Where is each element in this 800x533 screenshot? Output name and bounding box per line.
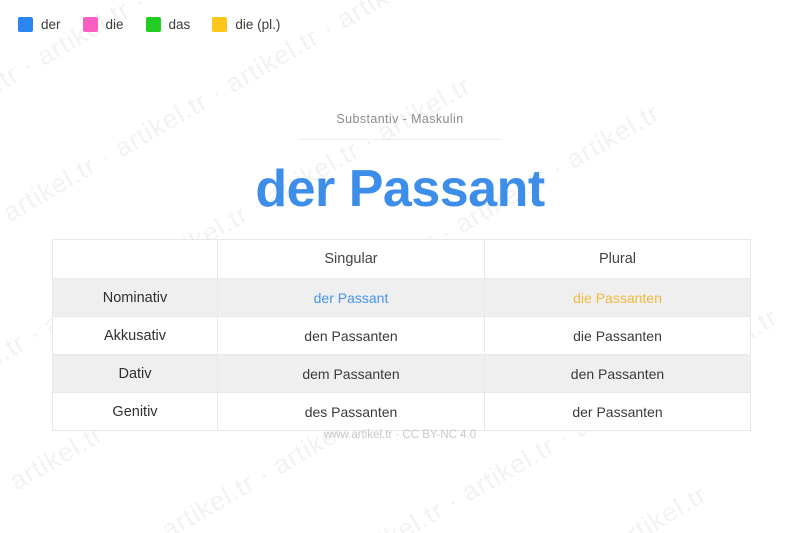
case-label: Dativ <box>53 355 218 393</box>
table-row: Nominativder Passantdie Passanten <box>53 279 751 317</box>
word-header: Substantiv - Maskulin der Passant <box>0 112 800 217</box>
case-label: Akkusativ <box>53 317 218 355</box>
case-label: Genitiv <box>53 393 218 431</box>
table-row: Dativdem Passantenden Passanten <box>53 355 751 393</box>
subtitle-divider <box>300 139 500 140</box>
plural-form: der Passanten <box>485 393 751 431</box>
table-row: Genitivdes Passantender Passanten <box>53 393 751 431</box>
color-swatch-icon <box>18 17 33 32</box>
legend-item-label: das <box>169 18 191 32</box>
legend-item: der <box>18 17 61 32</box>
singular-form: den Passanten <box>218 317 485 355</box>
declension-table: Singular Plural Nominativder Passantdie … <box>52 239 751 431</box>
article-color-legend: derdiedasdie (pl.) <box>18 17 280 32</box>
table-header: Singular Plural <box>53 240 751 279</box>
legend-item: die (pl.) <box>212 17 280 32</box>
legend-item-label: der <box>41 18 61 32</box>
column-header-case <box>53 240 218 279</box>
table-header-row: Singular Plural <box>53 240 751 279</box>
singular-form: der Passant <box>218 279 485 317</box>
declension-card: artikel.tr · artikel.tr · artikel.tr · a… <box>0 0 800 533</box>
table-row: Akkusativden Passantendie Passanten <box>53 317 751 355</box>
plural-form: den Passanten <box>485 355 751 393</box>
footer-attribution: www.artikel.tr · CC BY-NC 4.0 <box>0 429 800 441</box>
column-header-singular: Singular <box>218 240 485 279</box>
legend-item: das <box>146 17 191 32</box>
column-header-plural: Plural <box>485 240 751 279</box>
singular-form: des Passanten <box>218 393 485 431</box>
case-label: Nominativ <box>53 279 218 317</box>
legend-item-label: die <box>106 18 124 32</box>
plural-form: die Passanten <box>485 317 751 355</box>
singular-form: dem Passanten <box>218 355 485 393</box>
page-title: der Passant <box>0 162 800 217</box>
legend-item: die <box>83 17 124 32</box>
color-swatch-icon <box>83 17 98 32</box>
color-swatch-icon <box>212 17 227 32</box>
color-swatch-icon <box>146 17 161 32</box>
word-subtitle: Substantiv - Maskulin <box>0 112 800 126</box>
legend-item-label: die (pl.) <box>235 18 280 32</box>
table-body: Nominativder Passantdie PassantenAkkusat… <box>53 279 751 431</box>
plural-form: die Passanten <box>485 279 751 317</box>
